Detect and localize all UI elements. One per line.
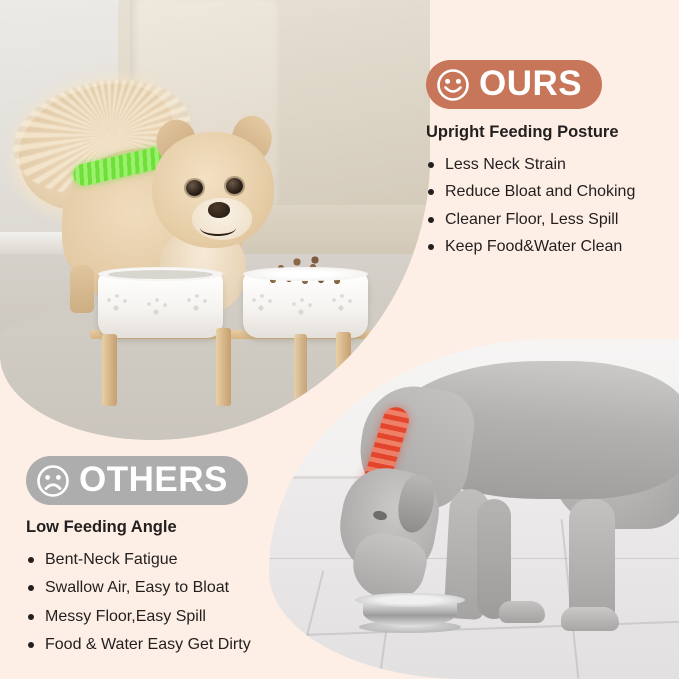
paw-print-embossing [249,288,362,328]
dog-nose [208,202,230,218]
paw-print-embossing [104,288,217,328]
others-subheading: Low Feeding Angle [26,518,346,537]
bowl-rim [355,593,465,607]
dog-eye-left [186,180,203,196]
list-item: Keep Food&Water Clean [426,238,674,256]
dog-mouth [200,220,236,236]
others-text-panel: OTHERS Low Feeding Angle Bent-Neck Fatig… [26,456,346,665]
food-bowl [243,272,368,338]
product-comparison-infographic: OURS Upright Feeding Posture Less Neck S… [0,0,679,679]
bamboo-leg [216,328,231,406]
smiley-face-icon [436,68,470,102]
sofa-cushion-right [280,0,430,206]
ours-badge: OURS [426,60,602,109]
ours-badge-label: OURS [479,66,582,103]
list-item: Cleaner Floor, Less Spill [426,211,674,229]
dog-leg-rear [70,265,94,313]
list-item: Food & Water Easy Get Dirty [26,636,346,654]
list-item: Swallow Air, Easy to Bloat [26,579,346,597]
water-bowl [98,272,223,338]
others-badge-label: OTHERS [79,462,228,499]
bowl-rim [243,267,368,281]
list-item: Reduce Bloat and Choking [426,183,674,201]
frowny-face-icon [36,464,70,498]
stainless-steel-floor-bowl [355,593,465,631]
dog-paw [561,607,619,631]
list-item: Bent-Neck Fatigue [26,551,346,569]
ours-benefit-list: Less Neck Strain Reduce Bloat and Chokin… [426,156,674,257]
ours-text-panel: OURS Upright Feeding Posture Less Neck S… [426,60,674,266]
bamboo-leg [102,334,117,406]
list-item: Messy Floor,Easy Spill [26,608,346,626]
ours-subheading: Upright Feeding Posture [426,123,674,142]
others-badge: OTHERS [26,456,248,505]
bowl-interior [108,270,213,279]
dog-eye-right [226,178,243,194]
list-item: Less Neck Strain [426,156,674,174]
dog-paw [499,601,545,623]
others-drawback-list: Bent-Neck Fatigue Swallow Air, Easy to B… [26,551,346,655]
